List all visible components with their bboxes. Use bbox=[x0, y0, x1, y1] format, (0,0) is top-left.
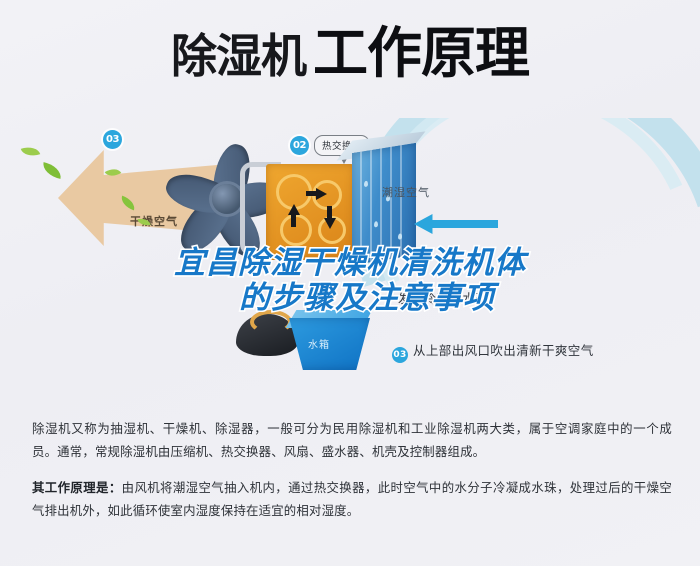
caption-03-marker: 03 bbox=[392, 347, 408, 363]
coil-loop-icon bbox=[280, 214, 312, 246]
compressor-ring-icon bbox=[250, 310, 292, 334]
humid-air-label: 潮湿空气 bbox=[382, 184, 430, 200]
water-tank-label: 水箱 bbox=[308, 336, 330, 351]
flow-arrow-down-stem bbox=[327, 206, 332, 218]
paragraph-2-rest: 由风机将潮湿空气抽入机内，通过热交换器，此时空气中的水分子冷凝成水珠，处理过后的… bbox=[32, 480, 672, 518]
flow-arrow-up-icon bbox=[288, 204, 300, 215]
paragraph-2: 其工作原理是：由风机将潮湿空气抽入机内，通过热交换器，此时空气中的水分子冷凝成水… bbox=[32, 477, 672, 523]
caption-03: 03从上部出风口吹出清新干爽空气 bbox=[392, 340, 594, 363]
title-part-a: 除湿机 bbox=[171, 29, 306, 83]
article-body: 除湿机又称为抽湿机、干燥机、除湿器，一般可分为民用除湿机和工业除湿机两大类，属于… bbox=[32, 418, 672, 536]
page-root: 除湿机工作原理 干燥空气 03 02 01 热交换器 bbox=[0, 0, 700, 566]
caption-02-text: 发器冷凝成水珠 bbox=[398, 291, 488, 306]
illustration-stage: 干燥空气 03 02 01 热交换器 bbox=[0, 118, 700, 410]
heat-exchanger-icon bbox=[352, 143, 416, 265]
flow-arrow-right-stem bbox=[306, 191, 318, 196]
marker-02: 02 bbox=[290, 136, 309, 155]
caption-02: 发器冷凝成水珠 bbox=[398, 288, 488, 307]
paragraph-1: 除湿机又称为抽湿机、干燥机、除湿器，一般可分为民用除湿机和工业除湿机两大类，属于… bbox=[32, 418, 672, 464]
caption-03-text: 从上部出风口吹出清新干爽空气 bbox=[413, 343, 594, 358]
leaf-icon bbox=[21, 144, 41, 160]
flow-arrow-down-icon bbox=[324, 218, 336, 229]
paragraph-2-lead: 其工作原理是： bbox=[32, 480, 122, 495]
flow-arrow-up-stem bbox=[291, 215, 296, 227]
leaf-icon bbox=[41, 162, 63, 179]
page-title: 除湿机工作原理 bbox=[0, 26, 700, 81]
compressor-coil-block-icon bbox=[266, 164, 354, 260]
flow-arrow-right-icon bbox=[316, 188, 333, 200]
marker-03: 03 bbox=[103, 130, 122, 149]
title-part-b: 工作原理 bbox=[313, 21, 529, 85]
